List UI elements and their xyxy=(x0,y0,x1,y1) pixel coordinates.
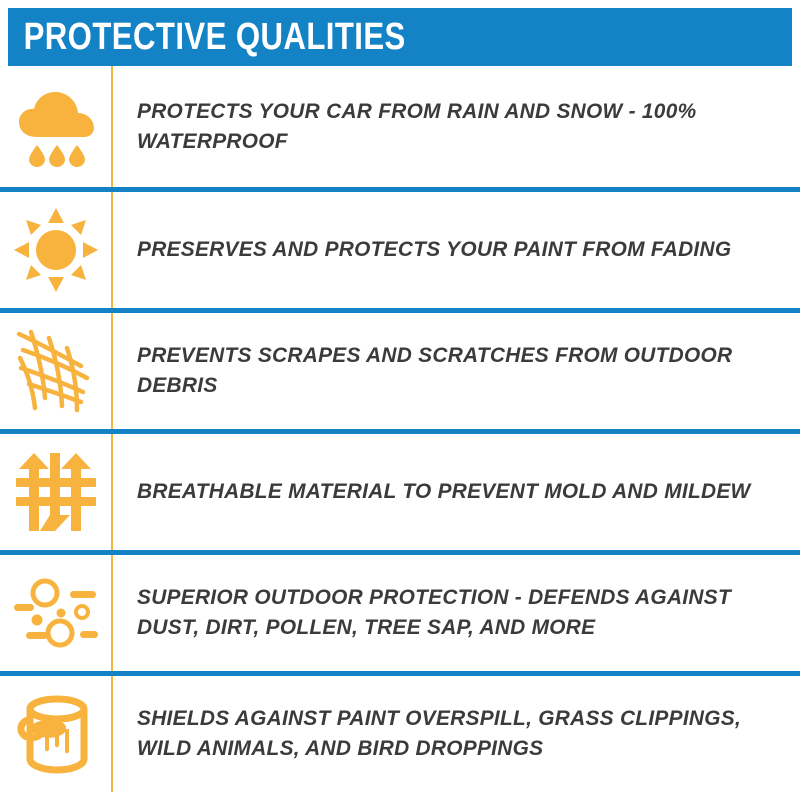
icon-cell xyxy=(0,66,111,187)
text-cell: SUPERIOR OUTDOOR PROTECTION - DEFENDS AG… xyxy=(113,583,800,642)
sun-icon xyxy=(14,208,98,292)
text-cell: PRESERVES AND PROTECTS YOUR PAINT FROM F… xyxy=(113,235,800,265)
rain-cloud-icon xyxy=(15,87,97,167)
feature-text: PREVENTS SCRAPES AND SCRATCHES FROM OUTD… xyxy=(137,341,767,400)
text-cell: SHIELDS AGAINST PAINT OVERSPILL, GRASS C… xyxy=(113,704,800,763)
scratches-icon xyxy=(15,328,97,414)
airflow-arrows-icon xyxy=(16,453,96,531)
feature-row: SHIELDS AGAINST PAINT OVERSPILL, GRASS C… xyxy=(0,671,800,792)
feature-text: BREATHABLE MATERIAL TO PREVENT MOLD AND … xyxy=(137,477,767,507)
dust-particles-icon xyxy=(14,577,98,649)
icon-cell xyxy=(0,676,111,792)
feature-text: SUPERIOR OUTDOOR PROTECTION - DEFENDS AG… xyxy=(137,583,767,642)
feature-row: PRESERVES AND PROTECTS YOUR PAINT FROM F… xyxy=(0,187,800,308)
text-cell: PREVENTS SCRAPES AND SCRATCHES FROM OUTD… xyxy=(113,341,800,400)
feature-text: SHIELDS AGAINST PAINT OVERSPILL, GRASS C… xyxy=(137,704,767,763)
text-cell: BREATHABLE MATERIAL TO PREVENT MOLD AND … xyxy=(113,477,800,507)
protective-qualities-infographic: PROTECTIVE QUALITIES xyxy=(0,0,800,800)
header-banner: PROTECTIVE QUALITIES xyxy=(8,8,792,66)
feature-row: BREATHABLE MATERIAL TO PREVENT MOLD AND … xyxy=(0,429,800,550)
page-title: PROTECTIVE QUALITIES xyxy=(8,18,406,56)
feature-row: PROTECTS YOUR CAR FROM RAIN AND SNOW - 1… xyxy=(0,66,800,187)
icon-cell xyxy=(0,192,111,308)
icon-cell xyxy=(0,313,111,429)
feature-list: PROTECTS YOUR CAR FROM RAIN AND SNOW - 1… xyxy=(0,66,800,800)
icon-cell xyxy=(0,434,111,550)
icon-cell xyxy=(0,555,111,671)
feature-row: PREVENTS SCRAPES AND SCRATCHES FROM OUTD… xyxy=(0,308,800,429)
paint-can-icon xyxy=(15,693,97,775)
feature-row: SUPERIOR OUTDOOR PROTECTION - DEFENDS AG… xyxy=(0,550,800,671)
text-cell: PROTECTS YOUR CAR FROM RAIN AND SNOW - 1… xyxy=(113,97,800,156)
feature-text: PRESERVES AND PROTECTS YOUR PAINT FROM F… xyxy=(137,235,767,265)
feature-text: PROTECTS YOUR CAR FROM RAIN AND SNOW - 1… xyxy=(137,97,767,156)
